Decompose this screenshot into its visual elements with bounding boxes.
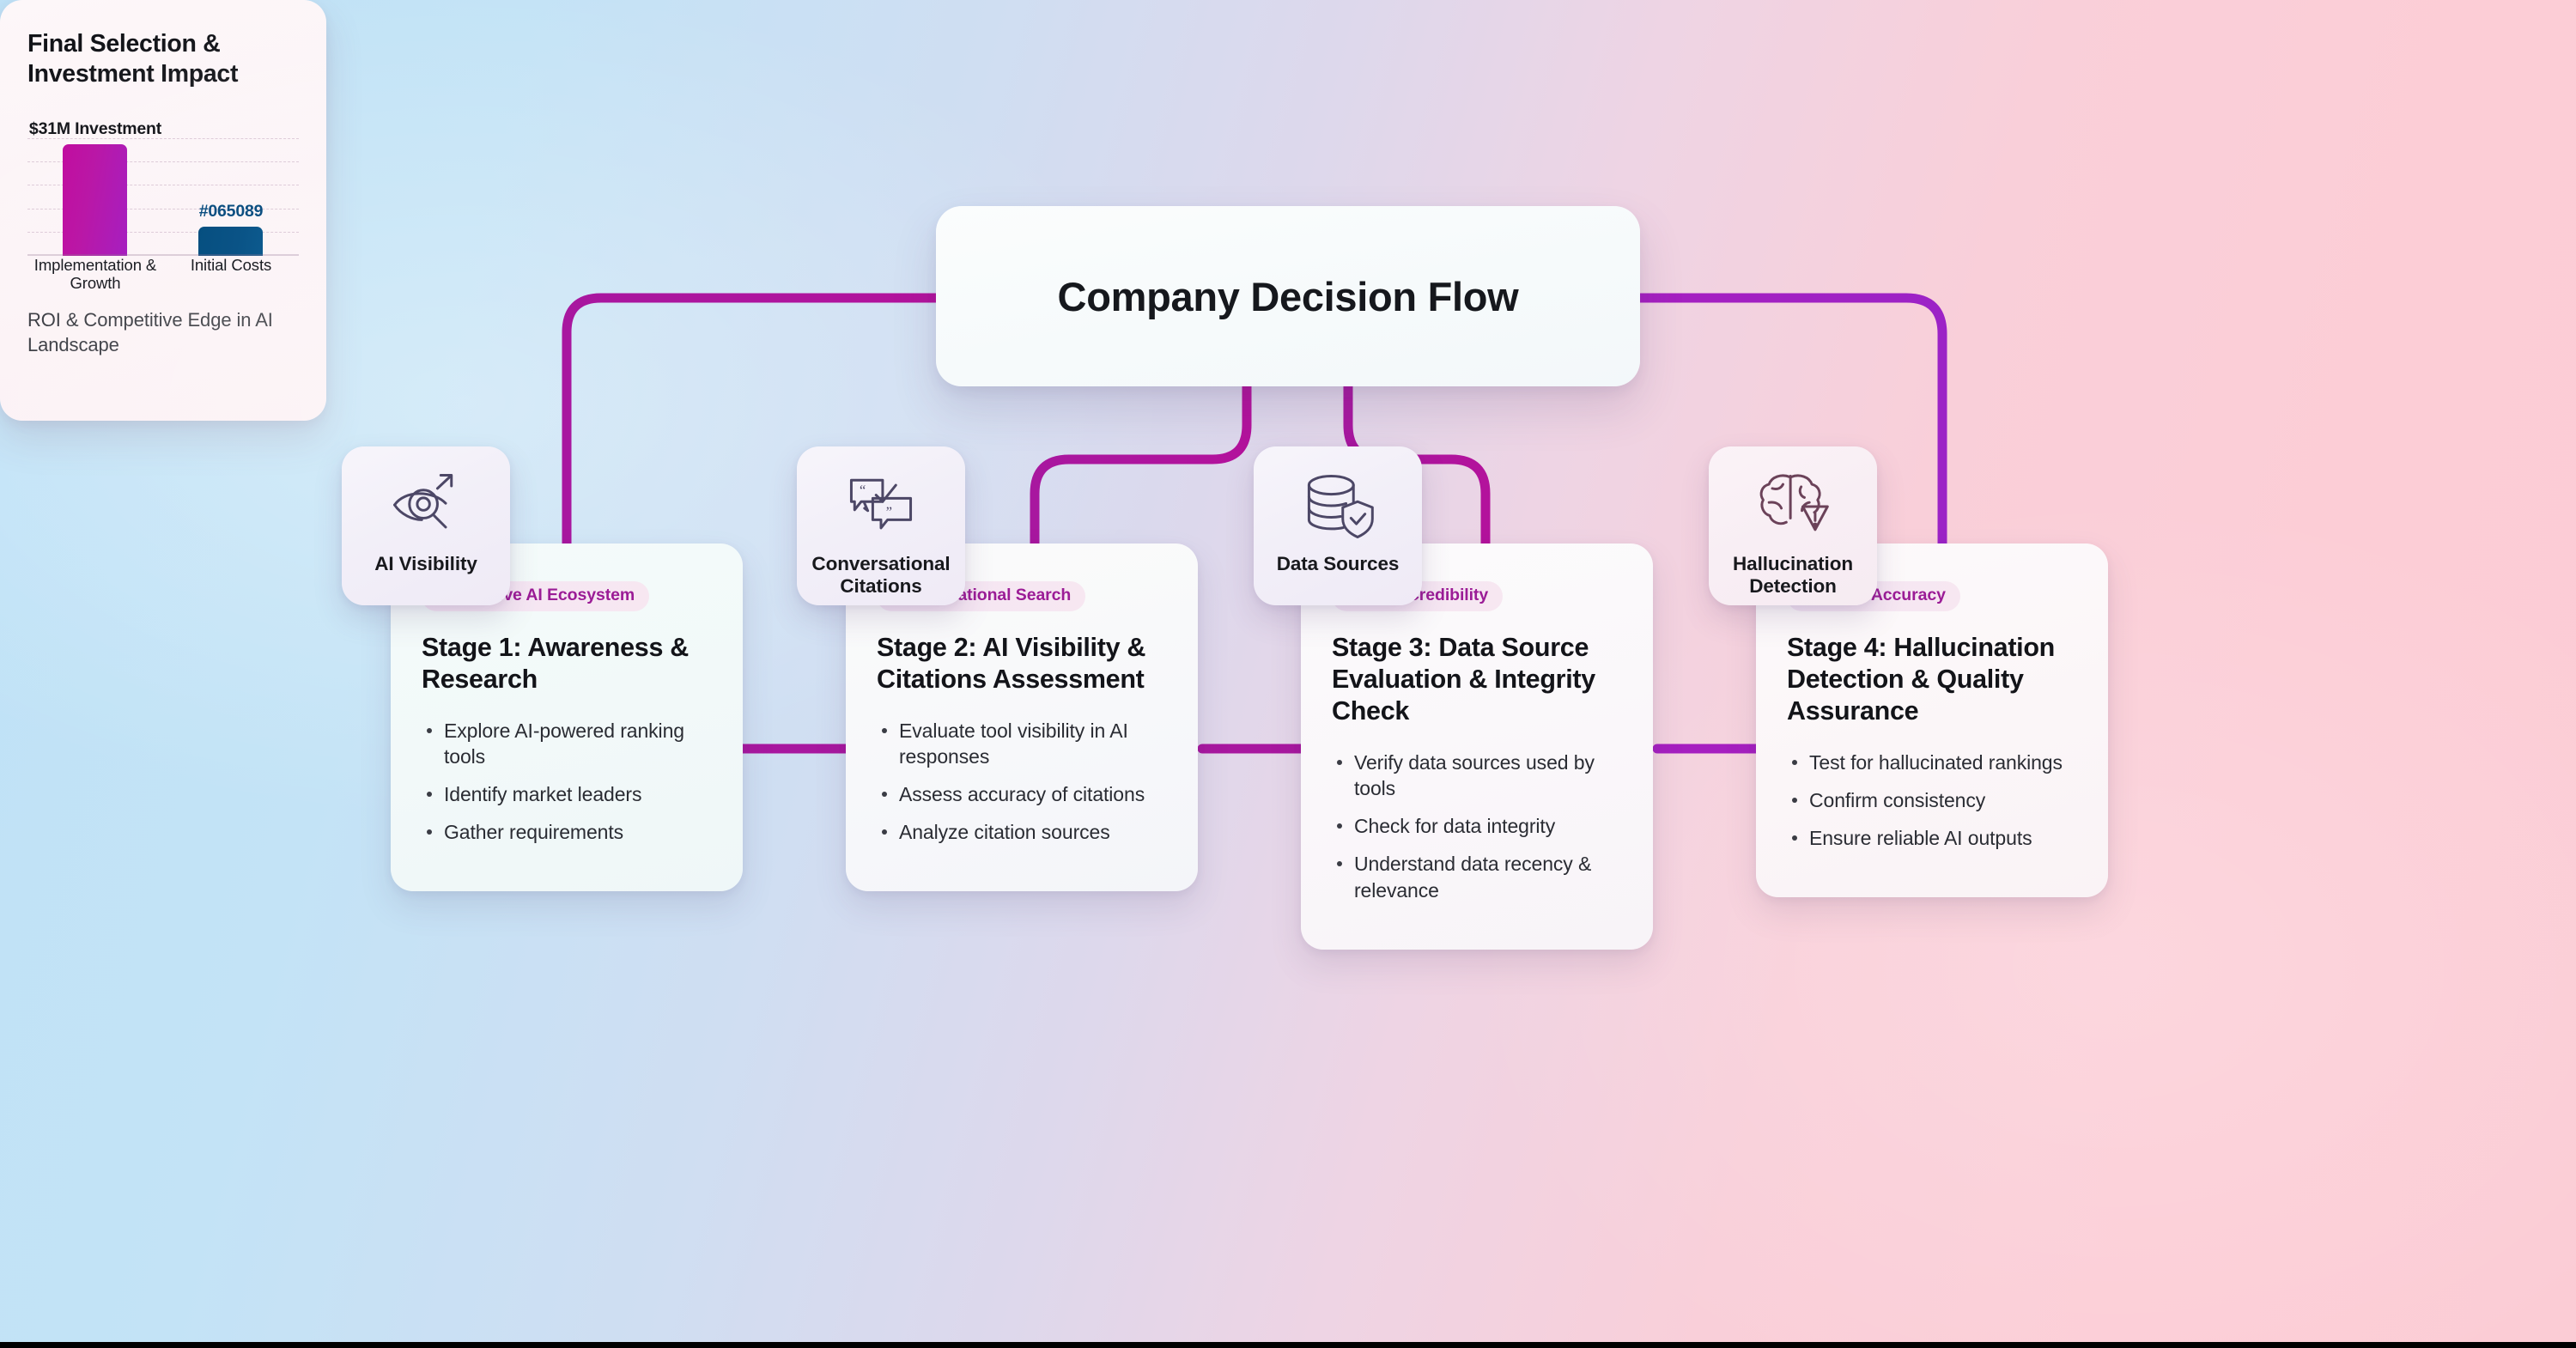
list-item: Identify market leaders (422, 781, 712, 807)
badge-conversational-citations[interactable]: “ ” ConversationalCitations (797, 446, 965, 605)
list-item: Test for hallucinated rankings (1787, 750, 2077, 775)
list-item: Analyze citation sources (877, 819, 1167, 845)
chart-bars: $31M Investment #065089 (27, 109, 299, 256)
diagram-canvas: Company Decision Flow Generative AI Ecos… (0, 0, 2576, 1342)
eye-magnifier-arrow-icon (385, 465, 467, 548)
bar-group-implementation: $31M Investment (33, 109, 157, 256)
list-item: Evaluate tool visibility in AI responses (877, 718, 1167, 769)
bar-group-initial-costs: #065089 (168, 109, 293, 256)
bar-value-label-2: #065089 (199, 202, 264, 222)
final-card-footer: ROI & Competitive Edge in AI Landscape (27, 307, 299, 357)
stage-title-4: Stage 4: Hallucination Detection & Quali… (1787, 632, 2077, 728)
stage-title-3: Stage 3: Data Source Evaluation & Integr… (1332, 632, 1622, 728)
list-item: Verify data sources used by tools (1332, 750, 1622, 801)
page-title: Company Decision Flow (1058, 273, 1519, 320)
badge-label: ConversationalCitations (811, 553, 950, 598)
chat-quotes-check-icon: “ ” (840, 465, 922, 548)
bar-value-label-1: $31M Investment (29, 119, 161, 139)
badge-data-sources[interactable]: Data Sources (1254, 446, 1422, 605)
screenshot-root: Company Decision Flow Generative AI Ecos… (0, 0, 2576, 1348)
flow-title-card: Company Decision Flow (936, 206, 1640, 386)
list-item: Gather requirements (422, 819, 712, 845)
stage-title-1: Stage 1: Awareness & Research (422, 632, 712, 695)
badge-label: AI Visibility (374, 553, 477, 575)
list-item: Understand data recency & relevance (1332, 851, 1622, 902)
stage-bullets-3: Verify data sources used by tools Check … (1332, 750, 1622, 903)
flow-connectors (0, 0, 2576, 1342)
svg-text:“: “ (860, 483, 866, 499)
investment-bar-chart: $31M Investment #065089 Implementation &… (27, 109, 299, 294)
badge-label: Data Sources (1277, 553, 1400, 575)
database-shield-check-icon (1297, 465, 1379, 548)
stage-title-2: Stage 2: AI Visibility & Citations Asses… (877, 632, 1167, 695)
category-label-2: Initial Costs (168, 256, 293, 294)
stage-bullets-2: Evaluate tool visibility in AI responses… (877, 718, 1167, 846)
list-item: Explore AI-powered ranking tools (422, 718, 712, 769)
badge-label: HallucinationDetection (1733, 553, 1853, 598)
connector-title-to-stage2 (1035, 386, 1247, 567)
bar-rect-implementation (63, 144, 127, 256)
list-item: Confirm consistency (1787, 787, 2077, 813)
final-selection-card[interactable]: Final Selection & Investment Impact $31M… (0, 0, 326, 421)
category-label-1: Implementation & Growth (33, 256, 157, 294)
list-item: Ensure reliable AI outputs (1787, 825, 2077, 851)
list-item: Assess accuracy of citations (877, 781, 1167, 807)
chart-category-labels: Implementation & Growth Initial Costs (27, 256, 299, 294)
list-item: Check for data integrity (1332, 813, 1622, 839)
bar-rect-initial-costs (198, 227, 263, 256)
stage-bullets-1: Explore AI-powered ranking tools Identif… (422, 718, 712, 846)
svg-text:”: ” (886, 504, 892, 520)
final-card-title: Final Selection & Investment Impact (27, 29, 299, 90)
brain-warning-icon (1752, 465, 1834, 548)
stage-bullets-4: Test for hallucinated rankings Confirm c… (1787, 750, 2077, 851)
badge-ai-visibility[interactable]: AI Visibility (342, 446, 510, 605)
badge-hallucination-detection[interactable]: HallucinationDetection (1709, 446, 1877, 605)
